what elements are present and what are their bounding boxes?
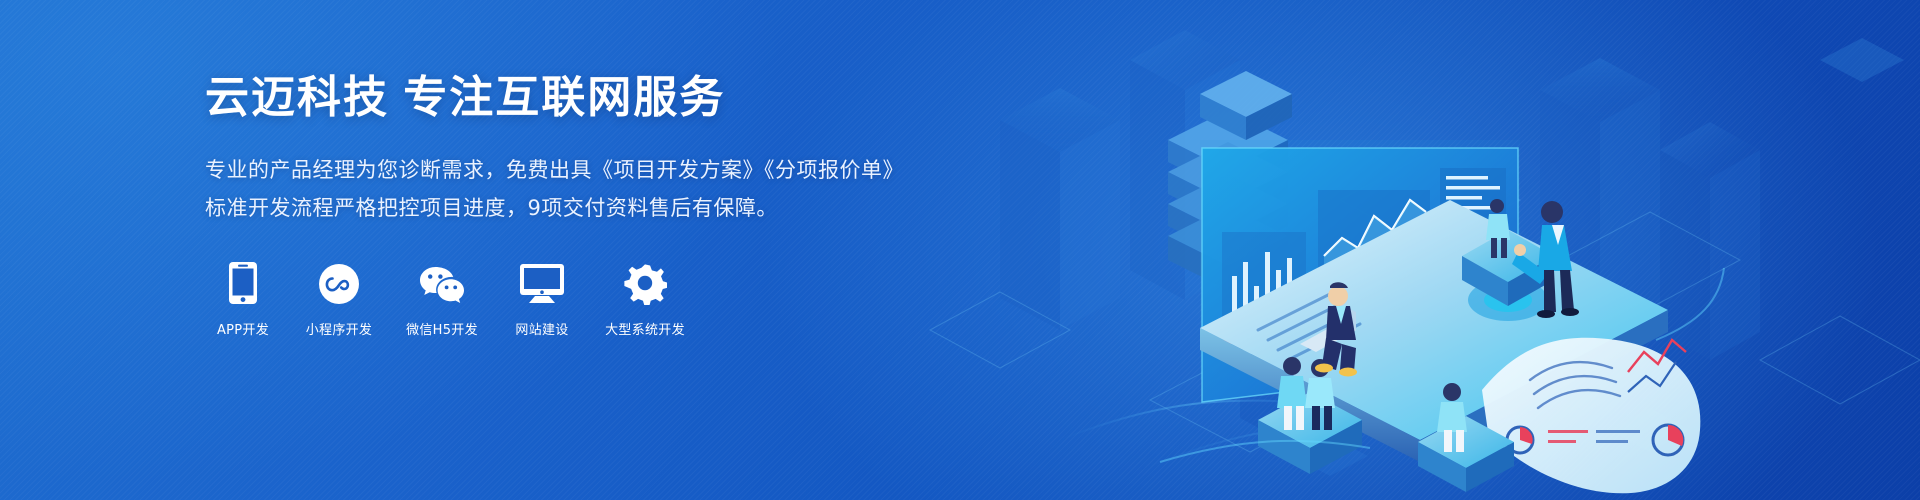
hero-subtitle: 专业的产品经理为您诊断需求，免费出具《项目开发方案》《分项报价单》 标准开发流程… xyxy=(205,151,905,227)
service-label: 大型系统开发 xyxy=(605,319,685,338)
server-stack xyxy=(1168,71,1292,290)
wechat-icon xyxy=(418,259,466,305)
subtitle-line-1: 专业的产品经理为您诊断需求，免费出具《项目开发方案》《分项报价单》 xyxy=(205,151,905,189)
gear-icon xyxy=(623,259,667,305)
service-label: 小程序开发 xyxy=(306,319,373,338)
tablet-platform xyxy=(1200,200,1668,462)
person-sitting-laptop xyxy=(1300,282,1357,376)
service-list: APP开发 小程序开发 xyxy=(205,259,905,338)
service-item-app[interactable]: APP开发 xyxy=(205,259,281,338)
subtitle-line-2: 标准开发流程严格把控项目进度，9项交付资料售后有保障。 xyxy=(205,189,905,227)
person-pair-right xyxy=(1418,383,1514,492)
monitor-icon xyxy=(519,259,565,305)
service-item-website[interactable]: 网站建设 xyxy=(503,259,581,338)
person-pair-left xyxy=(1258,357,1362,474)
hero-content: 云迈科技 专注互联网服务 专业的产品经理为您诊断需求，免费出具《项目开发方案》《… xyxy=(205,72,905,338)
curved-report-sheet xyxy=(1482,338,1700,494)
mini-program-icon xyxy=(318,259,360,305)
service-item-large-system[interactable]: 大型系统开发 xyxy=(597,259,693,338)
hero-banner: 云迈科技 专注互联网服务 专业的产品经理为您诊断需求，免费出具《项目开发方案》《… xyxy=(0,0,1920,500)
person-on-pedestal xyxy=(1462,199,1554,306)
page-title: 云迈科技 专注互联网服务 xyxy=(205,72,905,125)
mobile-phone-icon xyxy=(228,259,258,305)
service-item-mini-program[interactable]: 小程序开发 xyxy=(297,259,381,338)
service-label: APP开发 xyxy=(217,319,269,338)
dashboard-screen xyxy=(1200,140,1523,402)
person-standing-pointing xyxy=(1512,201,1579,318)
service-item-wechat[interactable]: 微信H5开发 xyxy=(397,259,487,338)
service-label: 微信H5开发 xyxy=(406,319,478,338)
service-label: 网站建设 xyxy=(515,319,568,338)
